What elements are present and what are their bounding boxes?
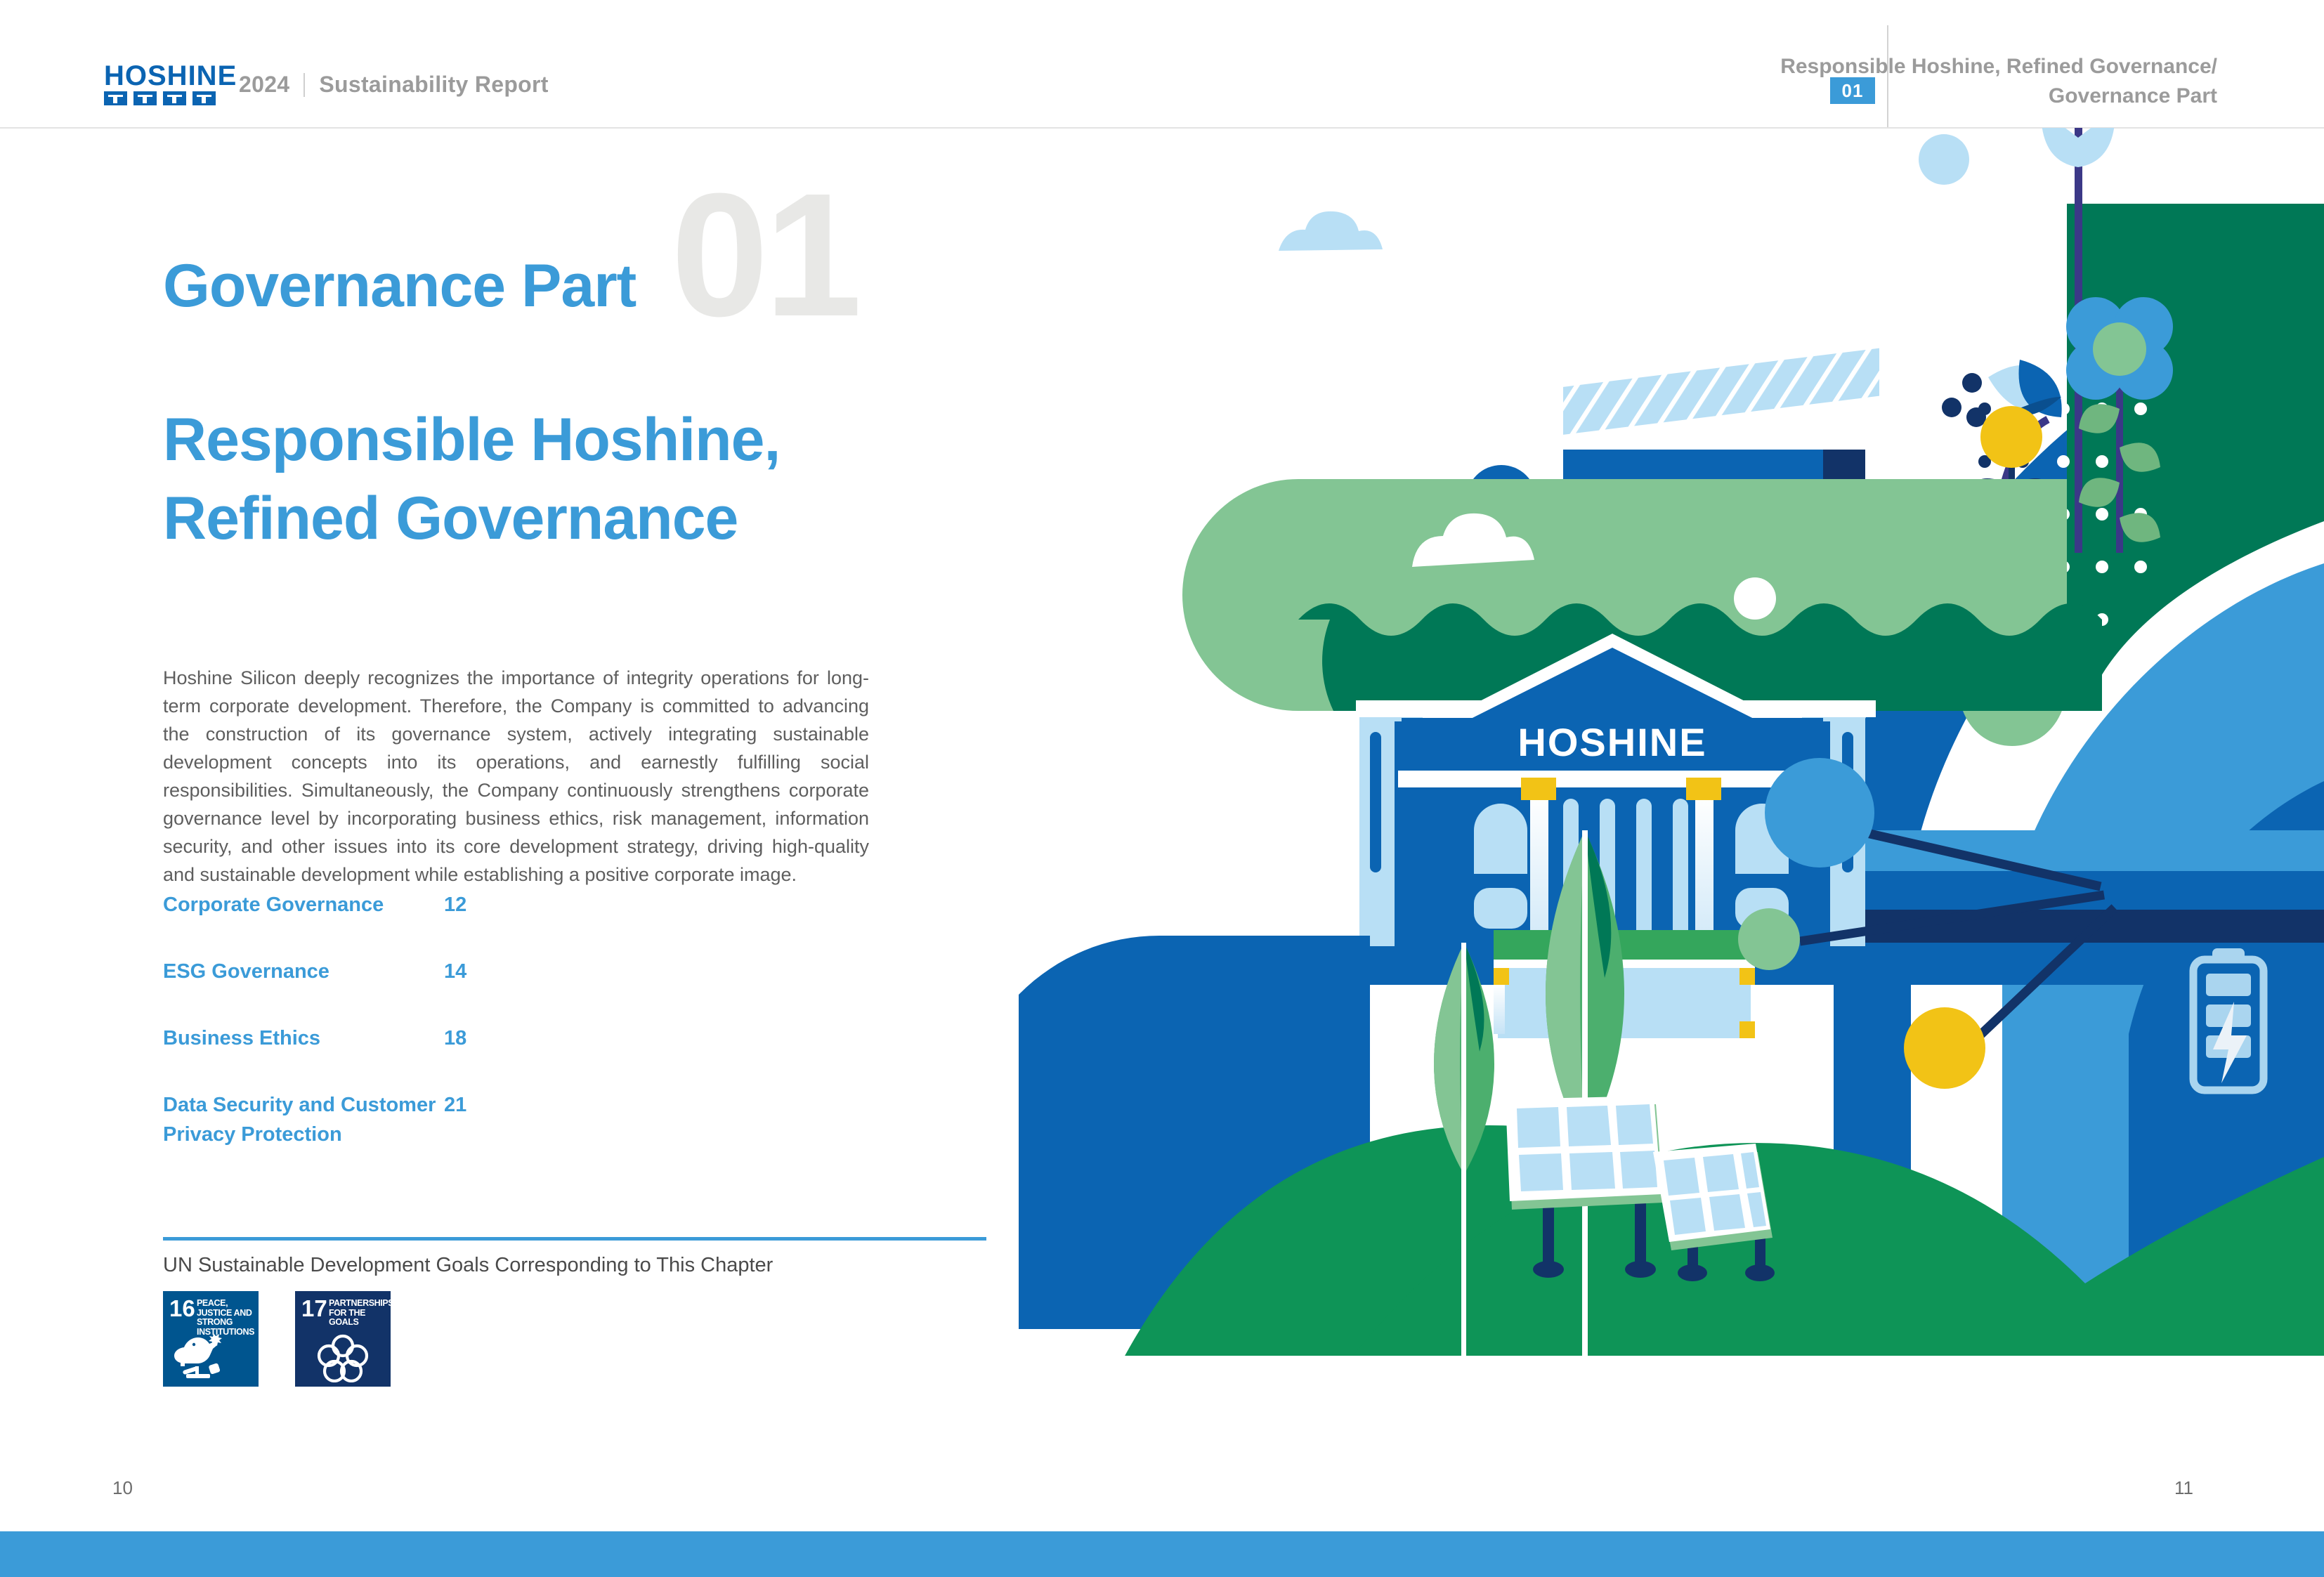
intro-paragraph: Hoshine Silicon deeply recognizes the im… — [163, 664, 869, 889]
building-sign-text: HOSHINE — [1517, 720, 1706, 764]
running-header-line2: Governance Part — [1697, 81, 2217, 111]
page-title: Responsible Hoshine, Refined Governance — [163, 400, 780, 558]
interlocking-rings-icon — [295, 1330, 391, 1382]
title-divider — [303, 73, 305, 97]
footer-bar — [0, 1531, 2324, 1577]
report-year: 2024 — [239, 72, 289, 98]
list-item[interactable]: Corporate Governance 12 — [163, 890, 500, 920]
hoshine-logo: HOSHINE — [104, 63, 234, 107]
page-number-left: 10 — [112, 1477, 133, 1499]
logo-glyph-3 — [163, 91, 186, 105]
chapter-label: Governance Part — [163, 251, 636, 321]
logo-chinese-mark — [104, 91, 234, 105]
network-node-green — [1738, 908, 1800, 970]
sdg-title: PARTNERSHIPS FOR THE GOALS — [329, 1299, 388, 1328]
page-title-line1: Responsible Hoshine, — [163, 400, 780, 479]
toc-label: Data Security and Customer Privacy Prote… — [163, 1090, 444, 1149]
sdg-goal-17[interactable]: 17 PARTNERSHIPS FOR THE GOALS — [295, 1291, 391, 1387]
logo-glyph-2 — [133, 91, 157, 105]
report-title: 2024 Sustainability Report — [239, 72, 549, 98]
toc-page: 21 — [444, 1090, 466, 1149]
chapter-number-watermark: 01 — [671, 167, 858, 343]
chapter-illustration: HOSHINE — [1019, 128, 2324, 1477]
toc-page: 12 — [444, 890, 466, 920]
sdg-divider — [163, 1237, 986, 1241]
page-header: HOSHINE 2024 Sustainability Report 01 Re… — [0, 0, 2324, 128]
list-item[interactable]: ESG Governance 14 — [163, 957, 500, 986]
report-name: Sustainability Report — [319, 72, 548, 98]
toc-label: ESG Governance — [163, 957, 444, 986]
sdg-number: 17 — [301, 1297, 327, 1320]
sdg-icon-group: 16 PEACE, JUSTICE AND STRONG INSTITUTION… — [163, 1291, 391, 1387]
network-node-yellow — [1904, 1007, 1985, 1089]
page-number-right: 11 — [2174, 1477, 2193, 1499]
logo-wordmark: HOSHINE — [104, 63, 234, 89]
sdg-caption: UN Sustainable Development Goals Corresp… — [163, 1254, 773, 1277]
running-header-line1: Responsible Hoshine, Refined Governance/ — [1697, 52, 2217, 81]
illustration-svg: HOSHINE — [1019, 128, 2324, 1477]
toc-page: 14 — [444, 957, 466, 986]
list-item[interactable]: Data Security and Customer Privacy Prote… — [163, 1090, 500, 1149]
logo-glyph-4 — [192, 91, 216, 105]
toc-label: Corporate Governance — [163, 890, 444, 920]
sdg-number: 16 — [169, 1297, 195, 1320]
sdg-goal-16[interactable]: 16 PEACE, JUSTICE AND STRONG INSTITUTION… — [163, 1291, 259, 1387]
toc-label: Business Ethics — [163, 1023, 444, 1053]
logo-glyph-1 — [104, 91, 127, 105]
toc-page: 18 — [444, 1023, 466, 1053]
chapter-contents-list: Corporate Governance 12 ESG Governance 1… — [163, 890, 500, 1186]
list-item[interactable]: Business Ethics 18 — [163, 1023, 500, 1053]
dove-gavel-icon — [163, 1330, 259, 1382]
page-title-line2: Refined Governance — [163, 479, 780, 558]
network-node-blue — [1765, 758, 1874, 868]
running-header: Responsible Hoshine, Refined Governance/… — [1697, 52, 2217, 111]
